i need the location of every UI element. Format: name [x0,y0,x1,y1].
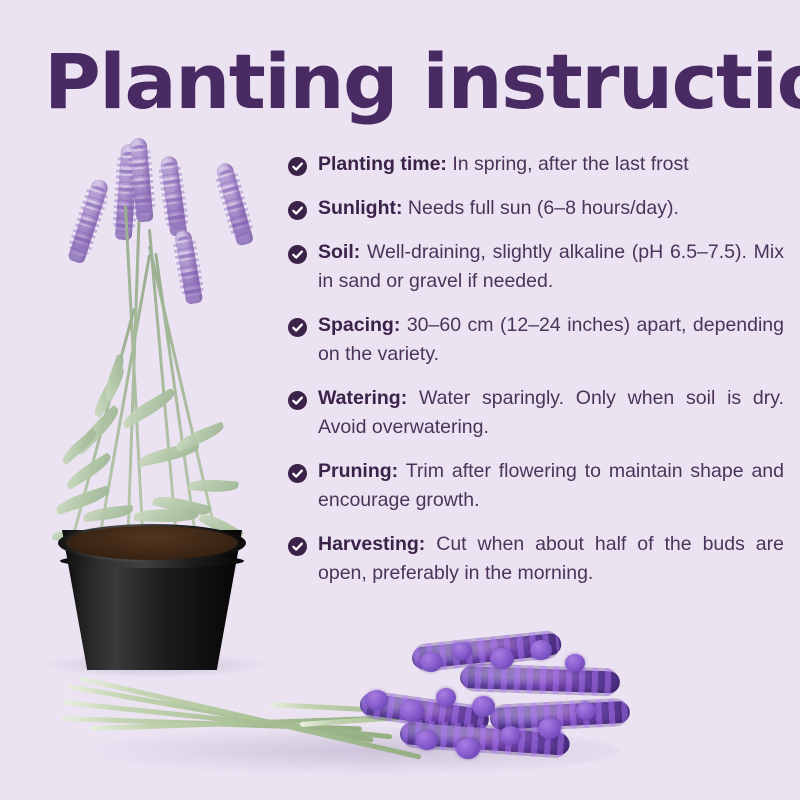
leaf [174,421,227,452]
cut-flower-head [460,666,621,694]
check-circle-icon [288,317,307,336]
item-text: Needs full sun (6–8 hours/day). [402,197,678,219]
item-label: Spacing: [318,314,400,336]
list-item: Planting time: In spring, after the last… [288,150,784,179]
pot-soil [66,526,238,560]
item-text: In spring, after the last frost [447,153,689,175]
leaf [188,478,239,493]
lavender-spike [215,161,254,246]
check-circle-icon [288,244,307,263]
floret [400,700,424,722]
item-text: Well-draining, slightly alkaline (pH 6.5… [318,241,784,292]
floret [530,640,552,660]
check-circle-icon [288,156,307,175]
floret [490,648,514,669]
list-item: Sunlight: Needs full sun (6–8 hours/day)… [288,194,784,223]
cut-lavender-sprigs [60,630,640,800]
item-label: Harvesting: [318,533,425,555]
floret [366,690,388,710]
check-circle-icon [288,536,307,555]
floret [565,654,585,672]
potted-lavender-illustration [0,120,300,680]
floret [500,726,521,745]
item-label: Soil: [318,241,360,263]
item-label: Sunlight: [318,197,402,219]
floret [436,688,456,707]
lavender-spike [129,137,153,222]
item-label: Watering: [318,387,407,409]
lavender-spike [67,177,110,264]
check-circle-icon [288,463,307,482]
floret [576,702,596,720]
instruction-list: Planting time: In spring, after the last… [288,150,784,588]
floret [452,642,472,660]
check-circle-icon [288,390,307,409]
lavender-spike [160,155,188,237]
leaf [134,508,198,523]
list-item: Spacing: 30–60 cm (12–24 inches) apart, … [288,311,784,369]
floret [420,652,442,672]
leaf [120,388,178,429]
item-label: Planting time: [318,153,447,175]
page-title: Planting instruction [44,40,799,124]
floret [472,696,495,717]
leaf [59,428,100,465]
list-item: Soil: Well-draining, slightly alkaline (… [288,238,784,296]
floret [416,730,438,750]
planting-instruction-poster: Planting instruction [0,0,800,800]
floret [538,718,561,739]
leaf [83,505,134,522]
list-item: Watering: Water sparingly. Only when soi… [288,384,784,442]
plant-stage [0,120,300,680]
list-item: Pruning: Trim after flowering to maintai… [288,457,784,515]
list-item: Harvesting: Cut when about half of the b… [288,530,784,588]
floret [456,738,480,759]
check-circle-icon [288,200,307,219]
item-label: Pruning: [318,460,398,482]
lavender-spike [174,229,204,305]
